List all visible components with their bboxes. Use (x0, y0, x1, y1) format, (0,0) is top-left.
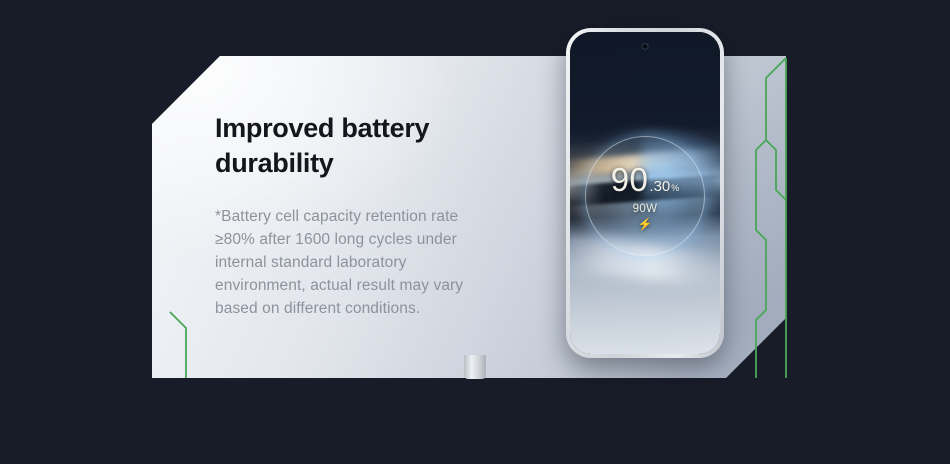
battery-percent-main: 90 (611, 163, 649, 196)
promo-banner: Improved battery durability *Battery cel… (0, 0, 950, 464)
disclaimer-text: *Battery cell capacity retention rate ≥8… (215, 206, 483, 321)
charging-ring: 90 .30 % 90W ⚡ (585, 136, 705, 256)
percent-sign: % (671, 184, 679, 193)
charge-power-label: 90W (633, 203, 658, 215)
page-title: Improved battery durability (215, 111, 495, 180)
text-block: Improved battery durability *Battery cel… (215, 111, 495, 321)
battery-percentage: 90 .30 % (611, 163, 680, 196)
battery-percent-fraction: .30 (649, 179, 670, 194)
lightning-bolt-icon: ⚡ (638, 218, 653, 230)
usb-c-connector (464, 355, 486, 379)
phone-screen: 90 .30 % 90W ⚡ (570, 32, 720, 354)
front-camera-icon (642, 43, 649, 50)
phone-device: 90 .30 % 90W ⚡ (566, 28, 724, 358)
